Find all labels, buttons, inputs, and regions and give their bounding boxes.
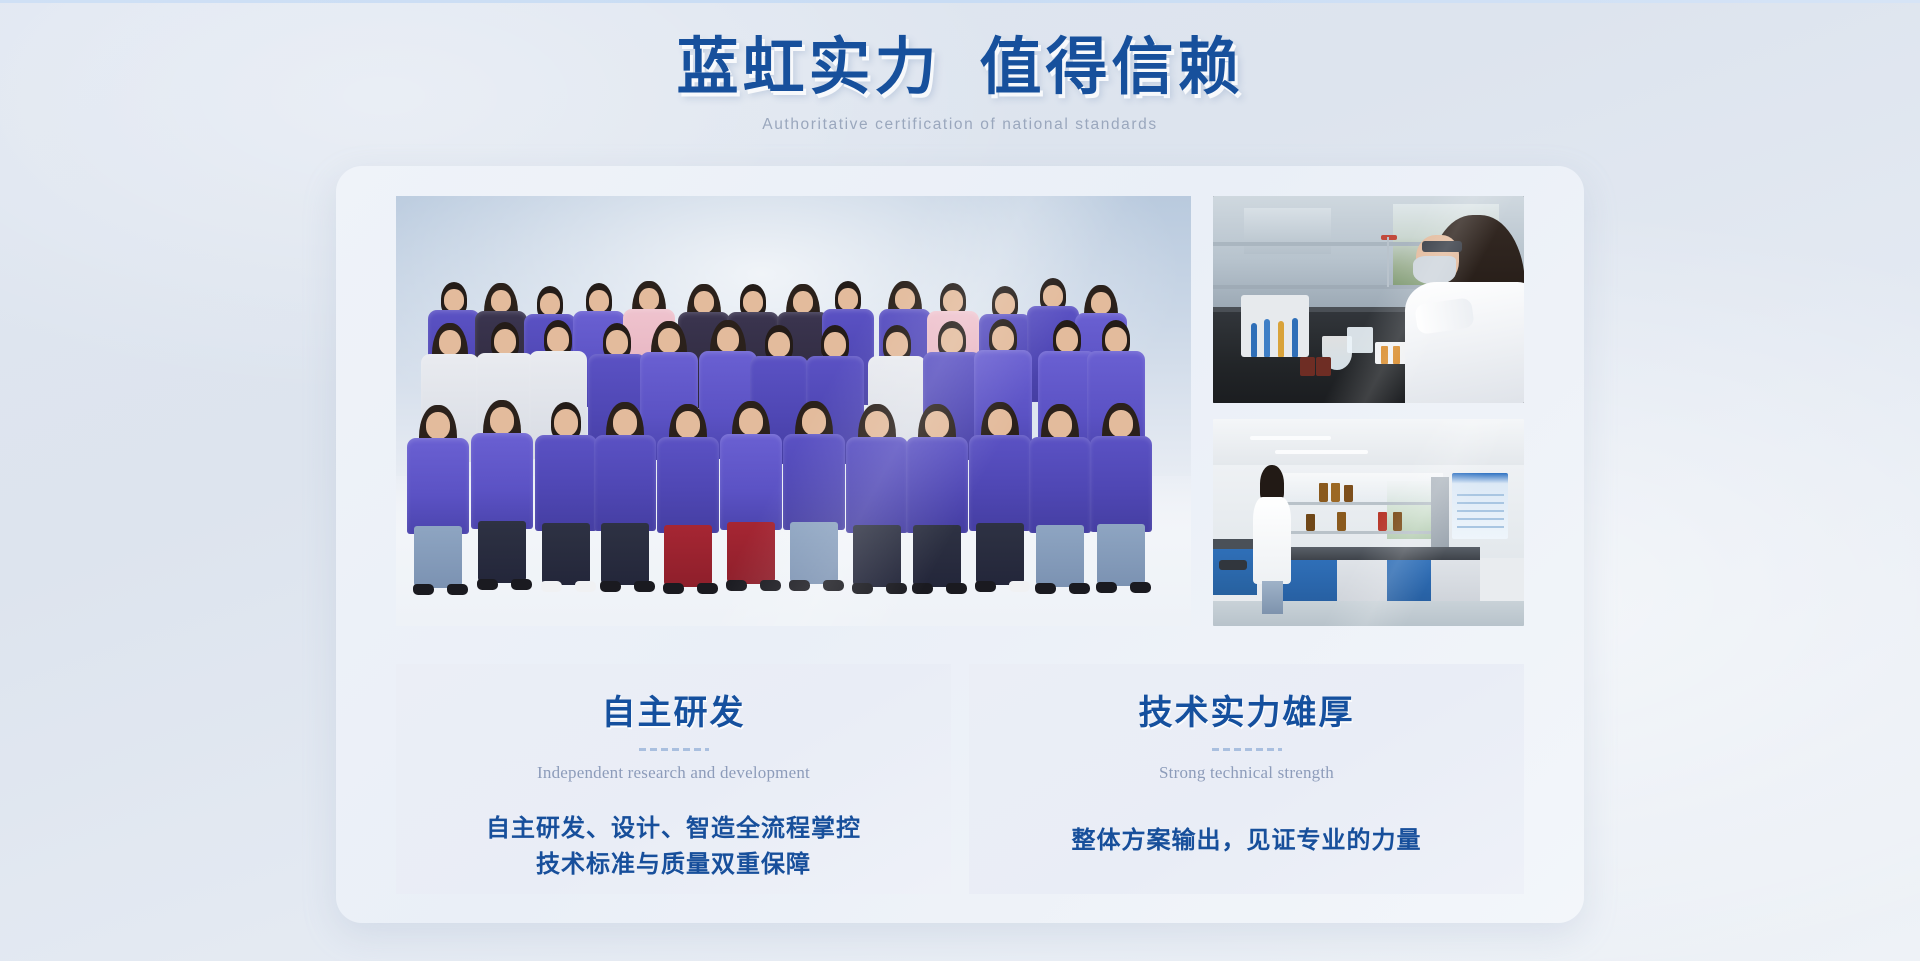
lab-bottom-technician-legs (1262, 581, 1283, 614)
team-member-face (444, 289, 464, 311)
team-member-legs (853, 525, 901, 587)
lab-bottom-main-bench (1269, 547, 1480, 559)
lab-bottom-technician-coat (1253, 497, 1290, 583)
lab-bottom-reagent-1 (1319, 483, 1328, 502)
team-member-face (865, 411, 889, 438)
feature-card-title: 自主研发 (414, 692, 933, 736)
feature-card-english: Independent research and development (414, 761, 933, 785)
team-member (657, 404, 719, 582)
team-member-face (613, 409, 637, 436)
lab-bottom-reagent-4 (1306, 514, 1315, 531)
team-member-face (802, 408, 826, 435)
team-member-shoe (634, 581, 655, 592)
team-member (906, 404, 968, 582)
team-member-face (694, 291, 714, 313)
lab-top-beaker (1347, 327, 1373, 353)
team-member-face (1105, 327, 1127, 352)
lab-bottom-ceiling-light-1 (1250, 436, 1331, 440)
team-member-face (793, 291, 813, 313)
team-member-uniform (471, 433, 533, 529)
team-member-shoe (413, 584, 434, 595)
team-member (1090, 403, 1152, 581)
dotted-divider (1212, 748, 1282, 751)
team-member-face (768, 332, 790, 357)
media-gallery (396, 196, 1524, 626)
team-member-legs (478, 521, 526, 583)
team-member (846, 404, 908, 582)
feature-card-title: 技术实力雄厚 (987, 692, 1506, 736)
team-member-legs (414, 526, 462, 588)
dotted-divider (639, 748, 709, 751)
team-photo[interactable] (396, 196, 1191, 626)
team-member-face (1056, 327, 1078, 352)
team-member-uniform (1029, 437, 1091, 533)
team-member (594, 402, 656, 580)
team-member-shoe (912, 583, 933, 594)
lab-top-retort-stand (1387, 237, 1389, 287)
lab-bottom-reagent-2 (1331, 483, 1340, 502)
team-member-legs (976, 523, 1024, 585)
team-member-face (439, 330, 461, 355)
team-member-face (494, 329, 516, 354)
team-member-face (1043, 285, 1063, 307)
lab-bottom-technician (1253, 465, 1290, 614)
team-member (471, 400, 533, 578)
lab-bottom-shelf-1 (1281, 502, 1443, 505)
lab-bottom-notice-board (1452, 473, 1508, 539)
team-member-shoe (600, 581, 621, 592)
team-member-legs (913, 525, 961, 587)
team-member (1029, 404, 1091, 582)
team-member-shoe (477, 579, 498, 590)
team-member-face (491, 290, 511, 312)
feature-card-english: Strong technical strength (987, 761, 1506, 785)
team-member-face (676, 411, 700, 438)
team-member-face (824, 332, 846, 357)
lab-photo-bottom[interactable] (1213, 419, 1524, 626)
team-member-face (941, 328, 963, 353)
team-member-shoe (1035, 583, 1056, 594)
team-member-uniform (657, 437, 719, 533)
team-member-uniform (783, 434, 845, 530)
team-member-face (639, 288, 659, 310)
lab-top-reagent-bottle-2 (1316, 357, 1331, 376)
team-member-face (547, 327, 569, 352)
lab-bottom-upper-shelf-glass (1281, 473, 1443, 502)
lab-bottom-stool (1219, 560, 1247, 570)
team-member-face (895, 288, 915, 310)
team-member (535, 402, 597, 580)
page-header: 蓝虹实力 值得信赖 Authoritative certification of… (0, 30, 1920, 134)
team-member-legs (790, 522, 838, 584)
team-member-shoe (726, 580, 747, 591)
team-member-face (1048, 411, 1072, 438)
team-member-uniform (1090, 436, 1152, 532)
team-member-face (943, 290, 963, 312)
team-member-shoe (447, 584, 468, 595)
lab-top-pipette-rack (1241, 295, 1309, 357)
lab-top-inner-window (1244, 208, 1331, 254)
lab-bottom-shelf-2 (1281, 531, 1443, 534)
team-member-shoe (575, 581, 596, 592)
team-member-face (490, 407, 514, 434)
team-member-shoe (1009, 581, 1030, 592)
team-member-face (992, 326, 1014, 351)
team-member-shoe (852, 583, 873, 594)
team-member-shoe (760, 580, 781, 591)
team-member (783, 401, 845, 579)
team-photo-people (396, 196, 1191, 626)
team-member-shoe (946, 583, 967, 594)
lab-top-technician-glasses (1422, 241, 1462, 252)
team-member-uniform (535, 435, 597, 531)
feature-cards: 自主研发 Independent research and developmen… (396, 664, 1524, 894)
team-member-shoe (511, 579, 532, 590)
feature-card-technical-strength[interactable]: 技术实力雄厚 Strong technical strength 整体方案输出，… (969, 664, 1524, 894)
team-member (407, 405, 469, 583)
feature-card-body: 自主研发、设计、智造全流程掌控 技术标准与质量双重保障 (414, 811, 933, 883)
team-member-legs (542, 523, 590, 585)
team-member-legs (727, 522, 775, 584)
team-member-shoe (975, 581, 996, 592)
lab-photo-top[interactable] (1213, 196, 1524, 403)
team-member-face (426, 412, 450, 439)
lab-bottom-ceiling (1213, 419, 1524, 465)
team-member-uniform (969, 435, 1031, 531)
team-member-legs (664, 525, 712, 587)
team-member-uniform (846, 437, 908, 533)
team-member-uniform (594, 435, 656, 531)
content-panel: 自主研发 Independent research and developmen… (336, 166, 1584, 923)
team-member-shoe (697, 583, 718, 594)
team-member-shoe (1130, 582, 1151, 593)
team-member-face (838, 288, 858, 310)
page-title: 蓝虹实力 值得信赖 (0, 30, 1920, 106)
team-member-shoe (823, 580, 844, 591)
team-member-shoe (1096, 582, 1117, 593)
team-member-face (658, 328, 680, 353)
team-member-face (886, 332, 908, 357)
team-member-face (1091, 292, 1111, 314)
team-member-legs (1036, 525, 1084, 587)
team-member (720, 401, 782, 579)
team-member-shoe (541, 581, 562, 592)
team-member-shoe (886, 583, 907, 594)
team-member-uniform (720, 434, 782, 530)
team-member-uniform (407, 438, 469, 534)
team-member-face (589, 290, 609, 312)
lab-top-sample-tube-1 (1381, 346, 1388, 364)
lab-top-technician-mask (1413, 256, 1456, 284)
lab-top-reagent-bottle-1 (1300, 357, 1315, 376)
team-member-face (739, 408, 763, 435)
team-member-uniform (906, 437, 968, 533)
top-accent-line (0, 0, 1920, 3)
team-member (969, 402, 1031, 580)
team-member-face (925, 411, 949, 438)
team-member-face (995, 293, 1015, 315)
team-member-face (988, 409, 1012, 436)
lab-bottom-reagent-7 (1393, 512, 1402, 531)
team-member-face (554, 409, 578, 436)
team-member-face (540, 293, 560, 315)
team-member-shoe (1069, 583, 1090, 594)
lab-bottom-side-cabinet (1213, 549, 1257, 595)
page-subtitle: Authoritative certification of national … (0, 116, 1920, 134)
team-member-face (743, 291, 763, 313)
lab-bottom-reagent-5 (1337, 512, 1346, 531)
team-member-face (606, 330, 628, 355)
lab-bottom-ceiling-light-2 (1275, 450, 1368, 454)
feature-card-body: 整体方案输出，见证专业的力量 (987, 823, 1506, 859)
team-member-face (1109, 410, 1133, 437)
team-member-shoe (789, 580, 810, 591)
lab-top-technician (1393, 215, 1524, 403)
lab-bottom-reagent-3 (1344, 485, 1353, 502)
team-member-face (717, 327, 739, 352)
lab-bottom-reagent-6 (1378, 512, 1387, 531)
team-member-legs (1097, 524, 1145, 586)
team-member-shoe (663, 583, 684, 594)
feature-card-independent-rd[interactable]: 自主研发 Independent research and developmen… (396, 664, 951, 894)
team-member-legs (601, 523, 649, 585)
